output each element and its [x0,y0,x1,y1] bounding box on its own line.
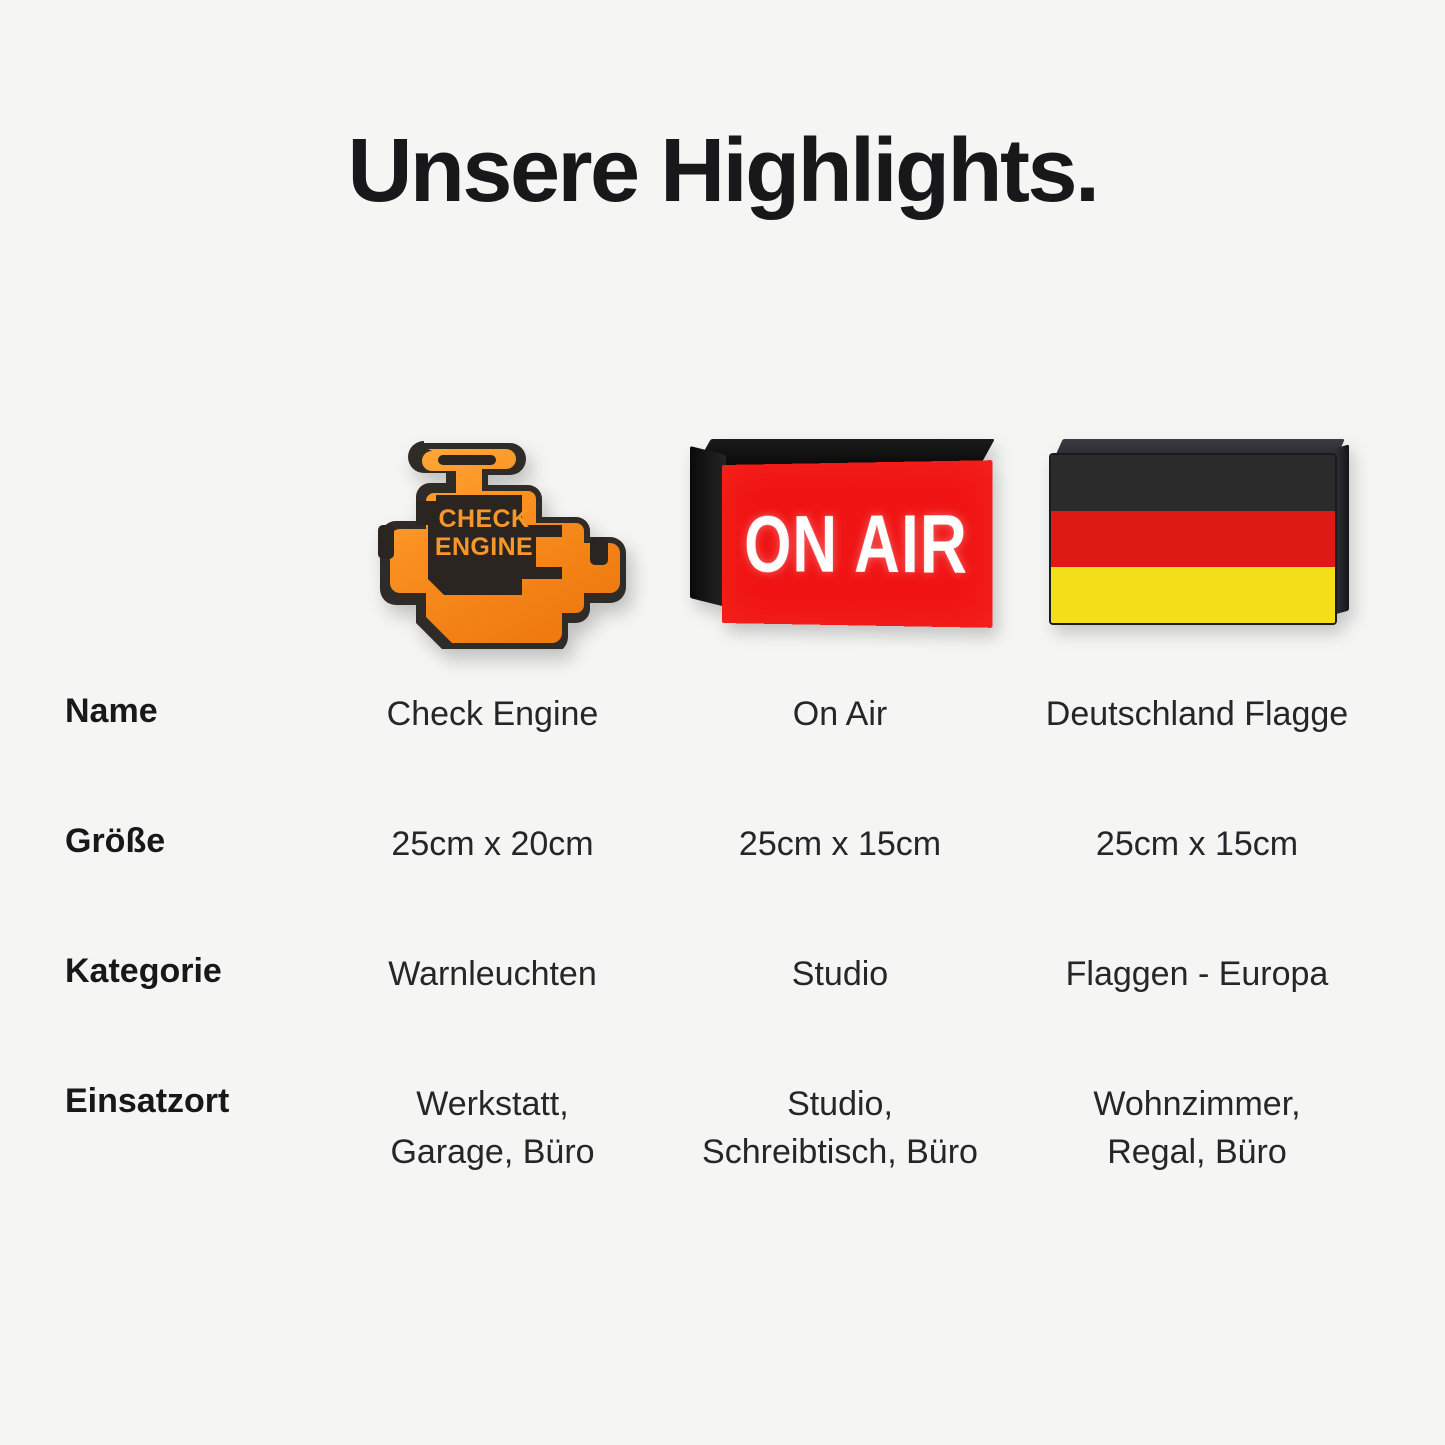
table-row: Kategorie Warnleuchten Studio Flaggen - … [0,950,1445,1080]
row-label-groesse: Größe [65,820,325,863]
cell-name-check-engine: Check Engine [330,690,655,738]
flag-band-red [1051,511,1335,567]
cell-name-deutschland-flagge: Deutschland Flagge [1022,690,1372,738]
product-image-check-engine[interactable]: CHECKENGINE [318,400,666,665]
cell-einsatzort-deutschland-flagge: Wohnzimmer, Regal, Büro [1022,1080,1372,1177]
table-row: Name Check Engine On Air Deutschland Fla… [0,690,1445,820]
table-row: Größe 25cm x 20cm 25cm x 15cm 25cm x 15c… [0,820,1445,950]
cell-einsatzort-on-air: Studio, Schreibtisch, Büro [672,1080,1008,1177]
cell-groesse-deutschland-flagge: 25cm x 15cm [1022,820,1372,868]
row-label-kategorie: Kategorie [65,950,325,993]
product-image-on-air[interactable]: ON AIR [666,400,1014,665]
cell-einsatzort-check-engine: Werkstatt, Garage, Büro [330,1080,655,1177]
table-row: Einsatzort Werkstatt, Garage, Büro Studi… [0,1080,1445,1240]
on-air-front-face: ON AIR [722,460,992,628]
flag-band-black [1051,455,1335,511]
product-image-deutschland-flagge[interactable] [1022,400,1370,665]
cell-kategorie-deutschland-flagge: Flaggen - Europa [1022,950,1372,998]
check-engine-lamp-icon: CHECKENGINE [342,417,642,649]
flag-front-face [1051,455,1335,623]
flag-band-yellow [1051,567,1335,623]
cell-groesse-check-engine: 25cm x 20cm [330,820,655,868]
cell-kategorie-on-air: Studio [672,950,1008,998]
cell-groesse-on-air: 25cm x 15cm [672,820,1008,868]
flag-side-face [1333,444,1349,615]
on-air-side-face [690,446,726,607]
germany-flag-lightbox [1041,433,1351,633]
page-title: Unsere Highlights. [0,126,1445,216]
row-label-einsatzort: Einsatzort [65,1080,325,1123]
row-label-name: Name [65,690,325,733]
spec-table: Name Check Engine On Air Deutschland Fla… [0,690,1445,1240]
product-image-row: CHECKENGINE ON AIR [0,400,1445,665]
on-air-lightbox: ON AIR [684,433,996,633]
cell-kategorie-check-engine: Warnleuchten [330,950,655,998]
on-air-text: ON AIR [744,502,968,585]
cell-name-on-air: On Air [672,690,1008,738]
